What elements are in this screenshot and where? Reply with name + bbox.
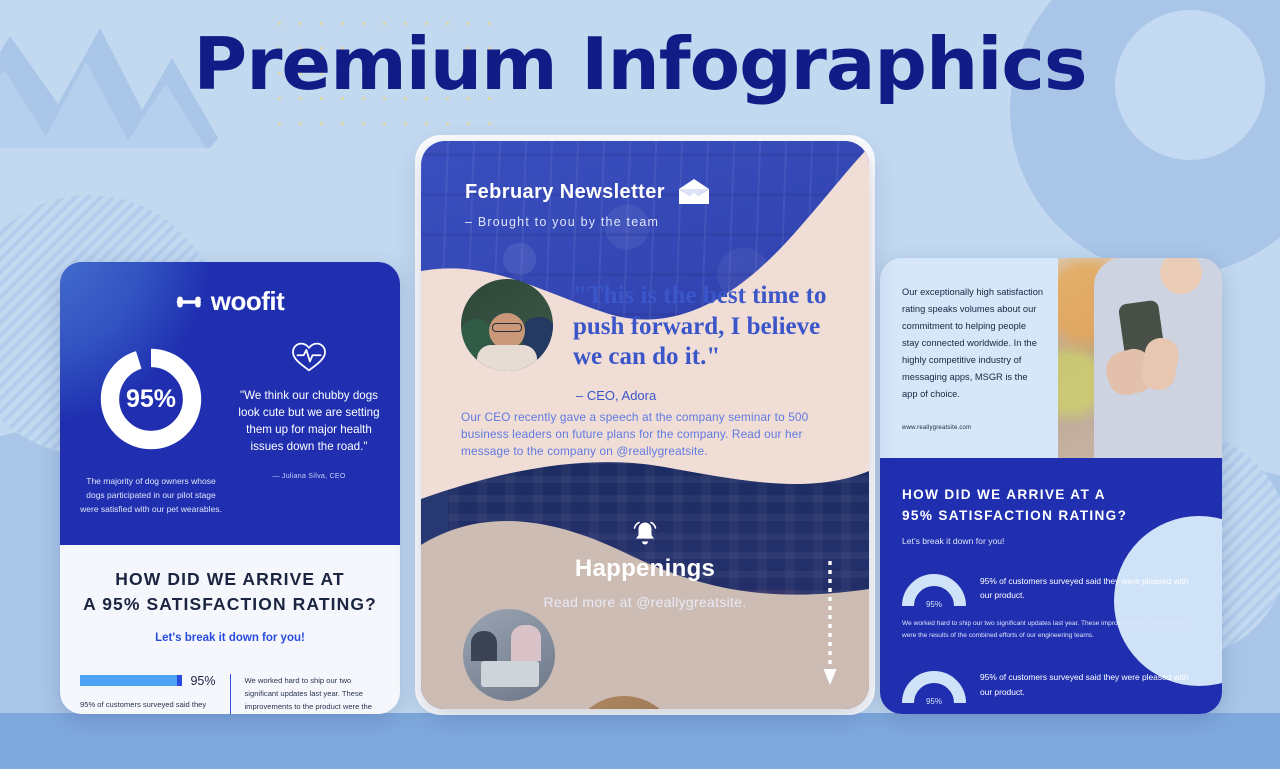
card-newsletter-frame: February Newsletter – Brought to you by … bbox=[415, 135, 875, 715]
msgr-stat-block-2: 95% 95% of customers surveyed said they … bbox=[902, 665, 1200, 705]
dotted-arrow-down-icon bbox=[822, 561, 838, 691]
newsletter-title: February Newsletter bbox=[465, 181, 665, 204]
msgr-heading-line1: HOW DID WE ARRIVE AT A bbox=[902, 484, 1200, 505]
woofit-heading: HOW DID WE ARRIVE AT A 95% SATISFACTION … bbox=[80, 567, 380, 618]
envelope-icon bbox=[677, 179, 711, 205]
woofit-lower: HOW DID WE ARRIVE AT A 95% SATISFACTION … bbox=[60, 545, 400, 714]
woofit-hero: woofit 95% The majority of dog owners wh… bbox=[60, 262, 400, 545]
newsletter-paragraph: Our CEO recently gave a speech at the co… bbox=[461, 409, 843, 460]
card-newsletter[interactable]: February Newsletter – Brought to you by … bbox=[421, 141, 869, 709]
msgr-top: Our exceptionally high satisfaction rati… bbox=[880, 258, 1222, 458]
msgr-subheading: Let's break it down for you! bbox=[902, 536, 1200, 546]
happenings-section: Happenings Read more at @reallygreatsite… bbox=[421, 519, 869, 612]
heart-pulse-icon bbox=[291, 341, 327, 373]
bell-icon bbox=[630, 519, 660, 549]
gauge-chart-2-label: 95% bbox=[902, 697, 966, 706]
newsletter-quote: "This is the best time to push forward, … bbox=[573, 281, 849, 373]
gauge-chart-2: 95% bbox=[902, 665, 966, 705]
newsletter-title-row: February Newsletter bbox=[465, 179, 711, 205]
woofit-stat-col: 95% The majority of dog owners whose dog… bbox=[72, 331, 230, 516]
woofit-stat-left: 95% 95% of customers surveyed said they … bbox=[80, 674, 230, 714]
gauge-chart-1: 95% bbox=[902, 568, 966, 608]
newsletter-header: February Newsletter – Brought to you by … bbox=[465, 179, 711, 229]
progress-row: 95% bbox=[80, 674, 216, 688]
woofit-hero-body: 95% The majority of dog owners whose dog… bbox=[60, 317, 400, 516]
woofit-heading-line1: HOW DID WE ARRIVE AT bbox=[80, 567, 380, 592]
team-photo-a bbox=[463, 609, 555, 701]
woofit-heading-line2: A 95% SATISFACTION RATING? bbox=[80, 592, 380, 617]
donut-value: 95% bbox=[97, 345, 205, 453]
gauge-chart-1-label: 95% bbox=[902, 600, 966, 609]
woofit-stat-left-text: 95% of customers surveyed said they were… bbox=[80, 698, 216, 714]
woofit-subheading: Let's break it down for you! bbox=[80, 632, 380, 644]
woofit-quote: "We think our chubby dogs look cute but … bbox=[230, 387, 388, 456]
woofit-stat-right: We worked hard to ship our two significa… bbox=[230, 674, 381, 714]
woofit-caption: The majority of dog owners whose dogs pa… bbox=[72, 475, 230, 516]
woofit-quote-attribution: — Juliana Silva, CEO bbox=[230, 473, 388, 480]
progress-percent-label: 95% bbox=[190, 674, 215, 688]
woofit-stat-right-text: We worked hard to ship our two significa… bbox=[245, 674, 381, 714]
ceo-avatar bbox=[461, 279, 553, 371]
page-title: Premium Infographics bbox=[0, 28, 1280, 100]
bottom-band bbox=[0, 713, 1280, 769]
progress-bar bbox=[80, 675, 182, 686]
woofit-stats: 95% 95% of customers surveyed said they … bbox=[80, 674, 380, 714]
msgr-heading: HOW DID WE ARRIVE AT A 95% SATISFACTION … bbox=[902, 484, 1200, 526]
msgr-note-1: We worked hard to ship our two significa… bbox=[902, 618, 1200, 642]
happenings-title: Happenings bbox=[421, 555, 869, 583]
msgr-text-column: Our exceptionally high satisfaction rati… bbox=[880, 258, 1058, 458]
progress-bar-cap bbox=[177, 675, 182, 686]
msgr-stat-text-2: 95% of customers surveyed said they were… bbox=[980, 670, 1200, 699]
newsletter-subtitle: – Brought to you by the team bbox=[465, 215, 711, 229]
msgr-photo bbox=[1058, 258, 1222, 458]
woofit-brand-name: woofit bbox=[211, 286, 285, 317]
donut-chart: 95% bbox=[97, 345, 205, 453]
msgr-stat-block: 95% 95% of customers surveyed said they … bbox=[902, 568, 1200, 608]
bone-icon bbox=[176, 295, 202, 309]
card-msgr[interactable]: Our exceptionally high satisfaction rati… bbox=[880, 258, 1222, 714]
card-woofit[interactable]: woofit 95% The majority of dog owners wh… bbox=[60, 262, 400, 714]
newsletter-quote-attribution: – CEO, Adora bbox=[576, 388, 656, 403]
msgr-heading-line2: 95% SATISFACTION RATING? bbox=[902, 505, 1200, 526]
msgr-intro: Our exceptionally high satisfaction rati… bbox=[902, 284, 1044, 403]
msgr-stat-text-1: 95% of customers surveyed said they were… bbox=[980, 574, 1200, 603]
happenings-text: Read more at @reallygreatsite. bbox=[421, 593, 869, 612]
woofit-brand: woofit bbox=[60, 262, 400, 317]
msgr-bottom: HOW DID WE ARRIVE AT A 95% SATISFACTION … bbox=[880, 458, 1222, 714]
woofit-quote-col: "We think our chubby dogs look cute but … bbox=[230, 331, 388, 516]
msgr-url[interactable]: www.reallygreatsite.com bbox=[902, 425, 1044, 431]
